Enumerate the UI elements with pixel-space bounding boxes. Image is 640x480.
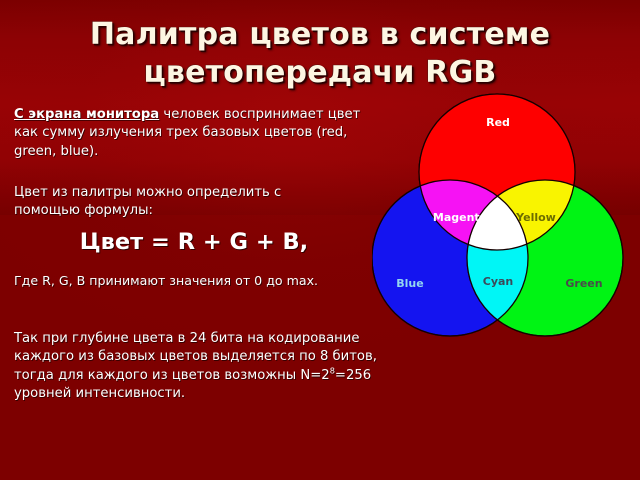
venn-label-yellow: Yellow xyxy=(515,211,556,224)
paragraph-perception: С экрана монитора человек воспринимает ц… xyxy=(14,106,380,161)
venn-label-cyan: Cyan xyxy=(483,275,514,288)
venn-label-red: Red xyxy=(486,116,510,129)
paragraph-lead-in: С экрана монитора xyxy=(14,107,159,122)
title-line-1: Палитра цветов в системе xyxy=(14,16,626,54)
color-formula: Цвет = R + G + B, xyxy=(14,228,374,256)
venn-label-green: Green xyxy=(565,277,602,290)
venn-label-magenta: Magenta xyxy=(433,211,487,224)
page-title: Палитра цветов в системе цветопередачи R… xyxy=(14,16,626,92)
slide-canvas: Палитра цветов в системе цветопередачи R… xyxy=(0,0,640,480)
bit-depth-part-1: Так при глубине цвета в 24 бита на кодир… xyxy=(14,331,377,383)
title-line-2: цветопередачи RGB xyxy=(14,54,626,92)
paragraph-value-range: Где R, G, B принимают значения от 0 до m… xyxy=(14,272,434,290)
paragraph-bit-depth: Так при глубине цвета в 24 бита на кодир… xyxy=(14,330,404,404)
paragraph-formula-intro: Цвет из палитры можно определить с помощ… xyxy=(14,184,344,221)
rgb-venn-diagram: Red Blue Green Magenta Yellow Cyan xyxy=(372,92,624,360)
